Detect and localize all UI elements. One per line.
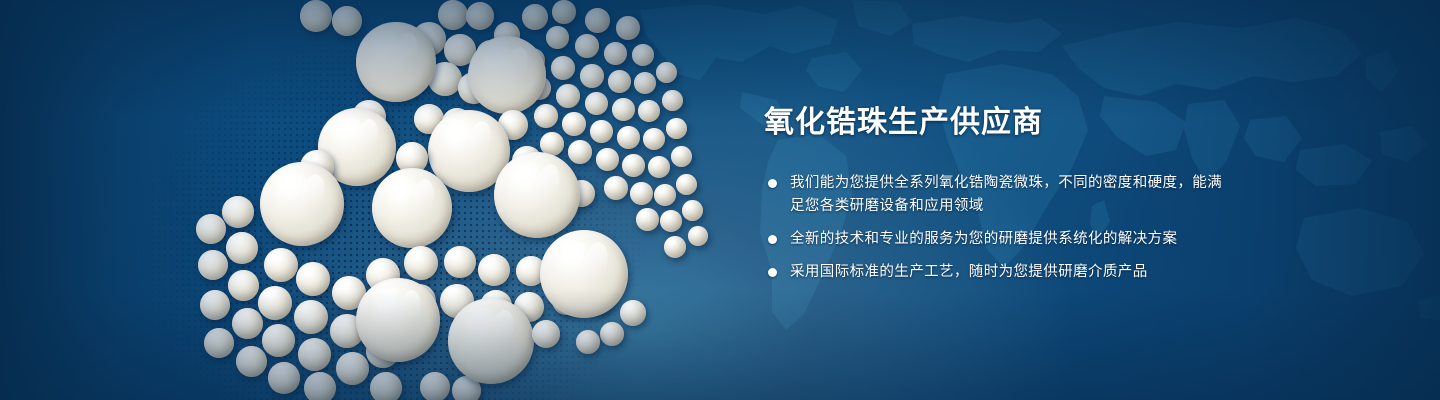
zirconia-beads-image bbox=[0, 0, 760, 400]
bullet-dot-icon bbox=[768, 268, 777, 277]
bullet-dot-icon bbox=[768, 235, 777, 244]
bullet-dot-icon bbox=[768, 179, 777, 188]
list-item: 全新的技术和专业的服务为您的研磨提供系统化的解决方案 bbox=[764, 228, 1234, 251]
list-item-label: 采用国际标准的生产工艺，随时为您提供研磨介质产品 bbox=[790, 264, 1148, 280]
list-item: 采用国际标准的生产工艺，随时为您提供研磨介质产品 bbox=[764, 261, 1234, 284]
feature-list: 我们能为您提供全系列氧化锆陶瓷微珠，不同的密度和硬度，能满足您各类研磨设备和应用… bbox=[764, 172, 1234, 284]
banner-copy: 氧化锆珠生产供应商 我们能为您提供全系列氧化锆陶瓷微珠，不同的密度和硬度，能满足… bbox=[764, 104, 1234, 284]
list-item-label: 全新的技术和专业的服务为您的研磨提供系统化的解决方案 bbox=[790, 231, 1177, 247]
list-item-label: 我们能为您提供全系列氧化锆陶瓷微珠，不同的密度和硬度，能满足您各类研磨设备和应用… bbox=[790, 175, 1222, 214]
page-title: 氧化锆珠生产供应商 bbox=[764, 104, 1234, 142]
list-item: 我们能为您提供全系列氧化锆陶瓷微珠，不同的密度和硬度，能满足您各类研磨设备和应用… bbox=[764, 172, 1234, 218]
hero-banner: 氧化锆珠生产供应商 我们能为您提供全系列氧化锆陶瓷微珠，不同的密度和硬度，能满足… bbox=[0, 0, 1440, 400]
